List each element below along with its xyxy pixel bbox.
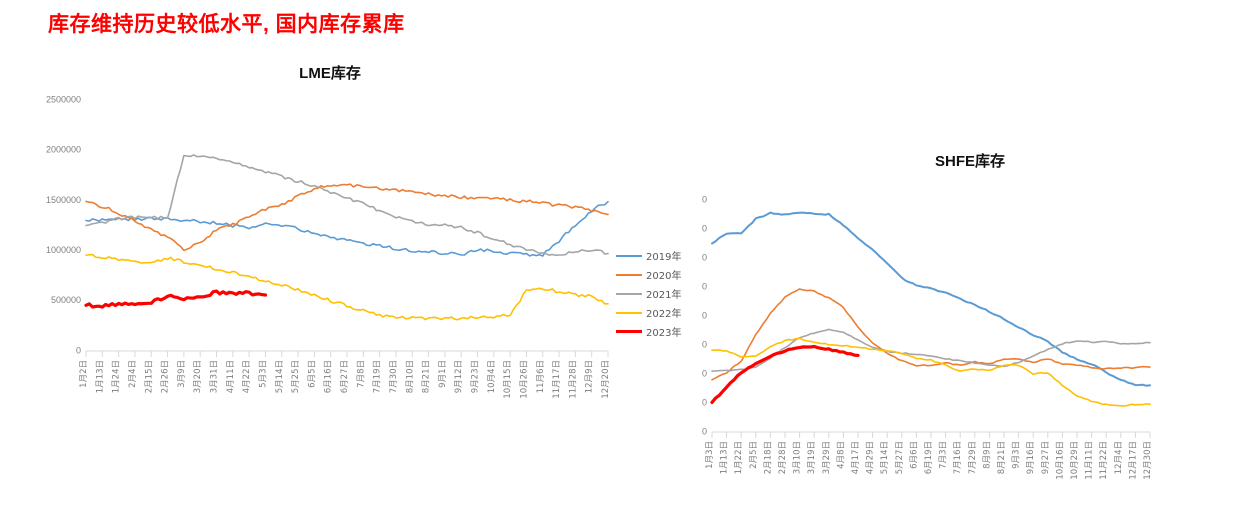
y-axis-tick-label: 2000000 [46,145,81,155]
x-axis-tick-label: 6月5日 [307,360,317,388]
lme-chart-title: LME库存 [250,62,410,83]
x-axis-tick-label: 4月22日 [242,360,252,393]
y-axis-tick-label: 0 [702,310,707,320]
legend-swatch-2022年 [616,312,642,314]
x-axis-tick-label: 9月3日 [1012,441,1022,469]
y-axis-tick-label: 0 [702,223,707,233]
y-axis-tick-label: 0 [702,397,707,407]
x-axis-tick-label: 8月9日 [982,441,992,469]
shfe-inventory-chart: SHFE库存 0000000001月3日1月13日1月22日2月5日2月18日2… [650,140,1246,512]
x-axis-tick-label: 11月11日 [1085,441,1095,480]
shfe-chart-plot: 0000000001月3日1月13日1月22日2月5日2月18日2月28日3月1… [650,140,1246,512]
x-axis-tick-label: 5月3日 [258,360,268,388]
x-axis-tick-label: 11月22日 [1099,441,1109,480]
x-axis-tick-label: 12月20日 [601,360,611,399]
x-axis-tick-label: 3月29日 [822,441,832,474]
y-axis-tick-label: 1500000 [46,195,81,205]
x-axis-tick-label: 9月1日 [438,360,448,388]
x-axis-tick-label: 9月23日 [471,360,481,393]
x-axis-tick-label: 3月31日 [210,360,220,393]
x-axis-tick-label: 7月3日 [939,441,949,469]
x-axis-tick-label: 10月16日 [1055,441,1065,480]
x-axis-tick-label: 4月8日 [836,441,846,469]
x-axis-tick-label: 7月16日 [953,441,963,474]
x-axis-tick-label: 4月17日 [851,441,861,474]
x-axis-tick-label: 5月14日 [880,441,890,474]
x-axis-tick-label: 3月19日 [807,441,817,474]
y-axis-tick-label: 0 [702,281,707,291]
x-axis-tick-label: 2月26日 [161,360,171,393]
x-axis-tick-label: 3月9日 [177,360,187,388]
x-axis-tick-label: 8月10日 [405,360,415,393]
x-axis-tick-label: 10月29日 [1070,441,1080,480]
series-line-2023年 [86,291,265,307]
x-axis-tick-label: 12月17日 [1128,441,1138,480]
x-axis-tick-label: 4月11日 [226,360,236,393]
legend-swatch-2019年 [616,255,642,257]
x-axis-tick-label: 2月28日 [778,441,788,474]
x-axis-tick-label: 11月17日 [552,360,562,399]
x-axis-tick-label: 5月14日 [275,360,285,393]
slide-canvas: 库存维持历史较低水平, 国内库存累库 LME库存 050000010000001… [0,0,1246,512]
x-axis-tick-label: 6月27日 [340,360,350,393]
lme-inventory-chart: LME库存 0500000100000015000002000000250000… [0,48,700,478]
x-axis-tick-label: 12月9日 [585,360,595,393]
y-axis-tick-label: 0 [76,345,81,355]
series-line-2022年 [86,255,608,320]
y-axis-tick-label: 2500000 [46,94,81,104]
y-axis-tick-label: 0 [702,368,707,378]
x-axis-tick-label: 10月4日 [487,360,497,393]
series-line-2022年 [712,338,1150,406]
x-axis-tick-label: 11月28日 [568,360,578,399]
shfe-chart-title: SHFE库存 [890,150,1050,171]
x-axis-tick-label: 12月4日 [1114,441,1124,474]
x-axis-tick-label: 1月13日 [720,441,730,474]
x-axis-tick-label: 2月15日 [144,360,154,393]
x-axis-tick-label: 3月10日 [793,441,803,474]
x-axis-tick-label: 8月21日 [997,441,1007,474]
x-axis-tick-label: 5月25日 [291,360,301,393]
x-axis-tick-label: 1月22日 [734,441,744,474]
y-axis-tick-label: 500000 [51,295,81,305]
y-axis-tick-label: 0 [702,339,707,349]
x-axis-tick-label: 2月4日 [128,360,138,388]
x-axis-tick-label: 9月12日 [454,360,464,393]
slide-headline: 库存维持历史较低水平, 国内库存累库 [48,8,405,38]
x-axis-tick-label: 10月15日 [503,360,513,399]
x-axis-tick-label: 12月30日 [1143,441,1153,480]
x-axis-tick-label: 2月18日 [763,441,773,474]
x-axis-tick-label: 7月19日 [373,360,383,393]
series-line-2020年 [712,289,1150,380]
x-axis-tick-label: 2月5日 [749,441,759,469]
x-axis-tick-label: 1月24日 [112,360,122,393]
x-axis-tick-label: 8月21日 [422,360,432,393]
x-axis-tick-label: 4月29日 [866,441,876,474]
x-axis-tick-label: 1月3日 [705,441,715,469]
x-axis-tick-label: 7月29日 [968,441,978,474]
x-axis-tick-label: 10月26日 [519,360,529,399]
lme-chart-plot: 050000010000001500000200000025000001月2日1… [0,48,700,478]
y-axis-tick-label: 0 [702,252,707,262]
x-axis-tick-label: 5月27日 [895,441,905,474]
x-axis-tick-label: 7月30日 [389,360,399,393]
x-axis-tick-label: 9月27日 [1041,441,1051,474]
x-axis-tick-label: 1月2日 [79,360,89,388]
x-axis-tick-label: 3月20日 [193,360,203,393]
series-line-2023年 [712,346,858,402]
y-axis-tick-label: 0 [702,426,707,436]
x-axis-tick-label: 6月6日 [909,441,919,469]
y-axis-tick-label: 0 [702,194,707,204]
x-axis-tick-label: 6月19日 [924,441,934,474]
legend-swatch-2021年 [616,293,642,295]
series-line-2019年 [86,202,608,256]
legend-swatch-2023年 [616,330,642,333]
x-axis-tick-label: 7月8日 [356,360,366,388]
x-axis-tick-label: 6月16日 [324,360,334,393]
x-axis-tick-label: 11月6日 [536,360,546,393]
legend-swatch-2020年 [616,274,642,276]
x-axis-tick-label: 9月16日 [1026,441,1036,474]
x-axis-tick-label: 1月13日 [95,360,105,393]
y-axis-tick-label: 1000000 [46,245,81,255]
